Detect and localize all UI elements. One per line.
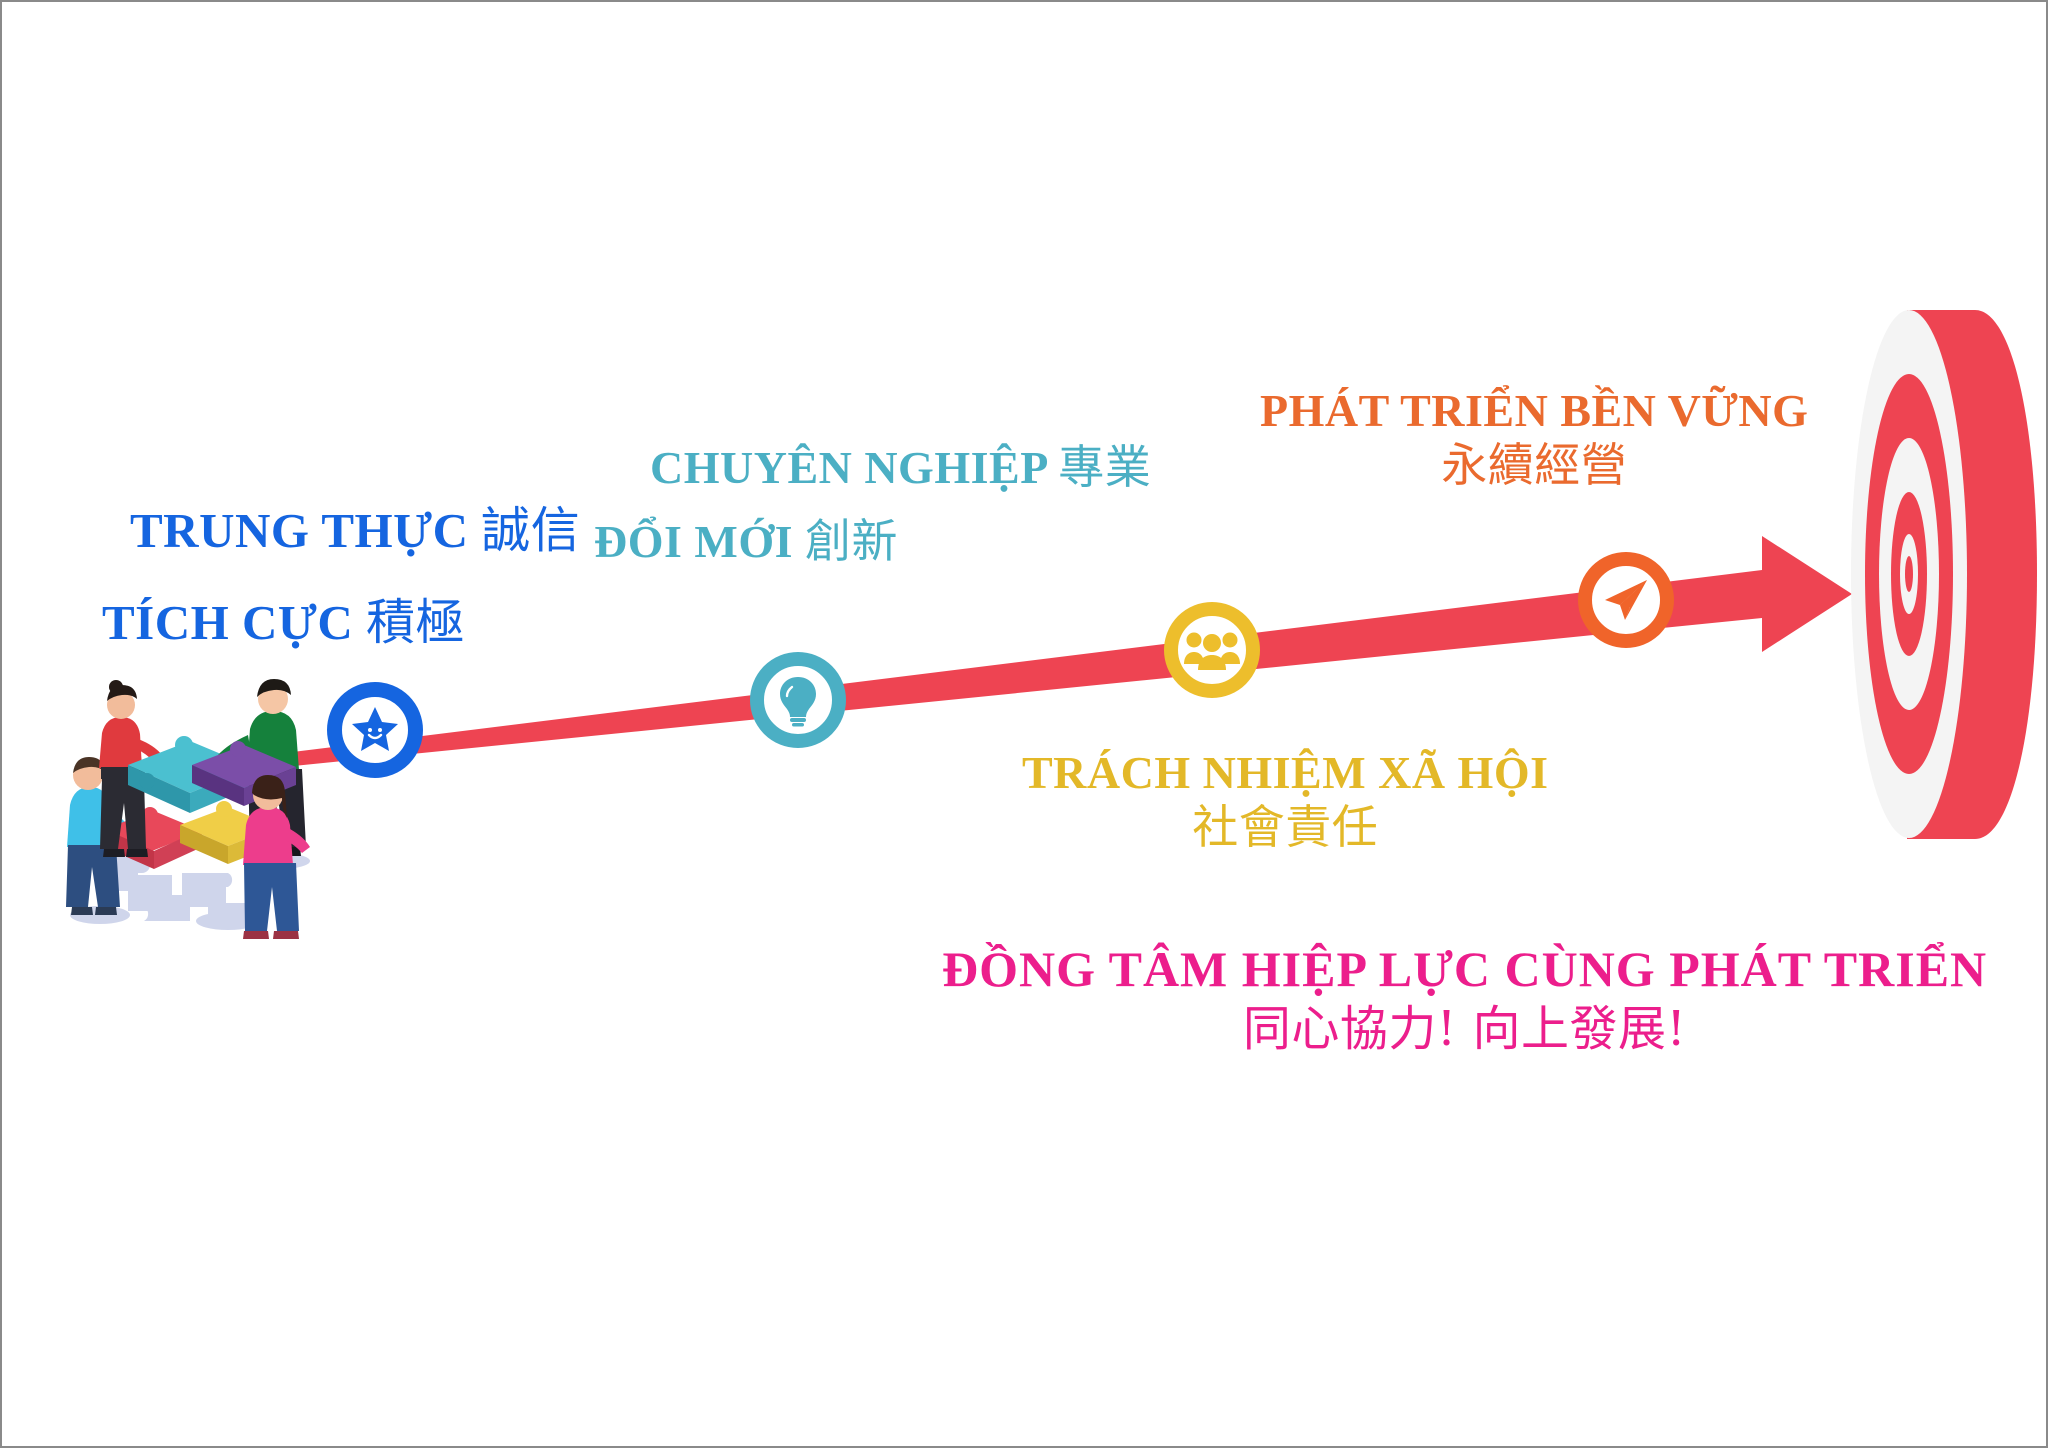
value-text-positivity: TÍCH CỰC 積極: [102, 594, 465, 652]
value-text-sustainable-development: PHÁT TRIỂN BỀN VỮNG 永續經營: [1260, 384, 1808, 494]
milestone-sustainable-growth[interactable]: [1578, 552, 1674, 648]
infographic-canvas: TRUNG THỰC 誠信 TÍCH CỰC 積極 CHUYÊN NGHIỆP …: [0, 0, 2048, 1448]
slogan-vn: ĐỒNG TÂM HIỆP LỰC CÙNG PHÁT TRIỂN: [942, 941, 1987, 997]
value-text-integrity: TRUNG THỰC 誠信: [130, 502, 580, 560]
paper-plane-icon: [1599, 573, 1653, 627]
value-label-zh: 積極: [366, 594, 465, 651]
value-text-social-responsibility: TRÁCH NHIỆM XÃ HỘI 社會責任: [1022, 746, 1549, 856]
value-label-vn: CHUYÊN NGHIỆP: [650, 442, 1046, 493]
value-label-zh: 永續經營: [1441, 438, 1627, 492]
milestone-integrity[interactable]: [327, 682, 423, 778]
star-smile-icon: [348, 703, 402, 757]
people-group-icon: [1183, 628, 1241, 672]
value-label-zh: 誠信: [481, 502, 580, 559]
value-label-zh: 創新: [805, 514, 898, 568]
value-label-vn: PHÁT TRIỂN BỀN VỮNG: [1260, 385, 1808, 436]
value-label-vn: TRUNG THỰC: [130, 503, 469, 558]
value-text-professionalism: CHUYÊN NGHIỆP 專業: [650, 440, 1151, 495]
milestone-innovation[interactable]: [750, 652, 846, 748]
lightbulb-icon: [773, 673, 823, 727]
milestone-social-responsibility[interactable]: [1164, 602, 1260, 698]
team-puzzle-illustration: [32, 657, 332, 952]
bullseye-target-3d: [1847, 302, 2047, 847]
value-label-vn: ĐỔI MỚI: [594, 516, 793, 567]
value-label-zh: 專業: [1058, 440, 1151, 494]
value-label-vn: TÍCH CỰC: [102, 595, 353, 650]
value-text-innovation: ĐỔI MỚI 創新: [594, 514, 898, 569]
target-bullseye: [1905, 556, 1913, 592]
value-label-vn: TRÁCH NHIỆM XÃ HỘI: [1022, 747, 1549, 798]
slogan-text: ĐỒNG TÂM HIỆP LỰC CÙNG PHÁT TRIỂN 同心協力! …: [942, 940, 1987, 1058]
slogan-zh: 同心協力! 向上發展!: [1243, 1001, 1686, 1057]
value-label-zh: 社會責任: [1192, 800, 1378, 854]
